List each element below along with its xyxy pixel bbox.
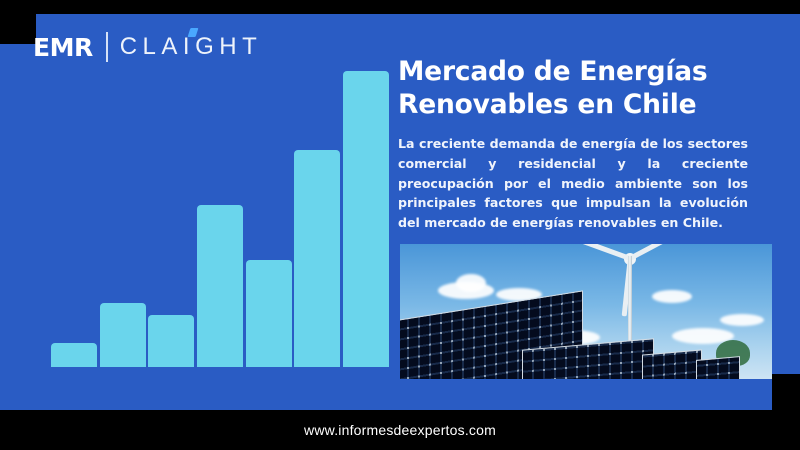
- bar-slot: [99, 62, 148, 367]
- page-title: Mercado de Energías Renovables en Chile: [398, 55, 770, 122]
- solar-panel-array: [642, 349, 702, 379]
- solar-panel-array: [696, 356, 740, 379]
- logo-divider: [106, 32, 108, 62]
- bar-slot: [147, 62, 196, 367]
- footer-website-url[interactable]: www.informesdeexpertos.com: [304, 422, 496, 438]
- market-trends-bar-chart: Tendencias históricas y pronósticas del …: [50, 62, 390, 367]
- chart-bar: [51, 343, 97, 367]
- corner-accent-bottom-right: [772, 374, 800, 410]
- turbine-tower-icon: [628, 256, 632, 351]
- chart-bars-group: [50, 62, 390, 367]
- bar-slot: [50, 62, 99, 367]
- headline-block: Mercado de Energías Renovables en Chile …: [398, 55, 770, 233]
- chart-bar: [197, 205, 243, 367]
- cloud-icon: [456, 274, 486, 292]
- footer-bar: www.informesdeexpertos.com: [0, 410, 800, 450]
- bar-slot: [341, 62, 390, 367]
- cloud-icon: [720, 314, 764, 326]
- logo-claight-text: CLAIGHT: [120, 33, 263, 61]
- chart-bar: [343, 71, 389, 367]
- chart-bar: [148, 315, 194, 367]
- brand-logo[interactable]: EMR CLAIGHT: [33, 30, 262, 64]
- description-paragraph: La creciente demanda de energía de los s…: [398, 134, 748, 233]
- chart-bar: [100, 303, 146, 367]
- chart-bar: [246, 260, 292, 367]
- bar-slot: [293, 62, 342, 367]
- logo-claight-label: CLAIGHT: [120, 33, 263, 60]
- cloud-icon: [652, 290, 692, 303]
- chart-bar: [294, 150, 340, 367]
- bar-slot: [196, 62, 245, 367]
- corner-accent-top-left: [0, 0, 36, 44]
- poster-canvas: EMR CLAIGHT: [0, 0, 800, 450]
- logo-emr-text: EMR: [33, 33, 93, 62]
- renewable-energy-photo: [400, 244, 772, 379]
- bar-slot: [244, 62, 293, 367]
